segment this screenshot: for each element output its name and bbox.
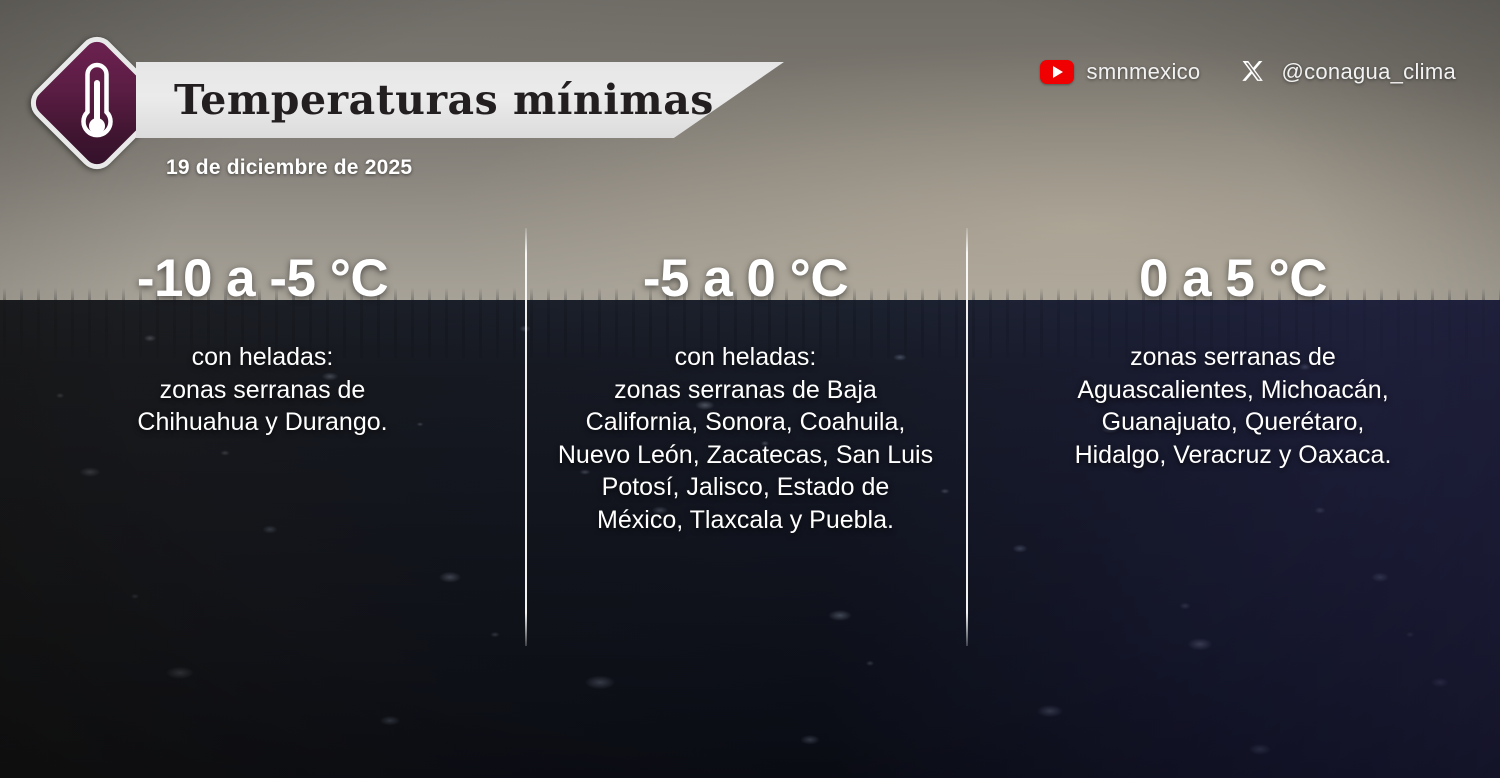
header: Temperaturas mínimas 19 de diciembre de … xyxy=(0,0,1500,200)
youtube-icon xyxy=(1040,60,1074,84)
temperature-column-3: 0 a 5 °C zonas serranas deAguascalientes… xyxy=(966,228,1500,648)
temperature-description-3: zonas serranas deAguascalientes, Michoac… xyxy=(1075,341,1392,471)
date-label: 19 de diciembre de 2025 xyxy=(166,156,412,180)
temperature-description-2: con heladas:zonas serranas de BajaCalifo… xyxy=(558,341,933,536)
column-divider-2 xyxy=(966,228,968,646)
temperature-range-1: -10 a -5 °C xyxy=(137,252,388,305)
social-link-x[interactable]: @conagua_clima xyxy=(1238,57,1456,87)
temperature-columns: -10 a -5 °C con heladas:zonas serranas d… xyxy=(0,228,1500,648)
page-title: Temperaturas mínimas xyxy=(174,62,714,138)
temperature-description-1: con heladas:zonas serranas deChihuahua y… xyxy=(137,341,387,439)
x-handle: @conagua_clima xyxy=(1281,59,1456,85)
social-link-youtube[interactable]: smnmexico xyxy=(1040,59,1201,85)
temperature-column-2: -5 a 0 °C con heladas:zonas serranas de … xyxy=(525,228,966,648)
youtube-handle: smnmexico xyxy=(1087,59,1201,85)
play-triangle-icon xyxy=(1053,66,1063,78)
column-divider-1 xyxy=(525,228,527,646)
x-twitter-icon xyxy=(1238,57,1268,87)
temperature-range-3: 0 a 5 °C xyxy=(1139,252,1327,305)
temperature-column-1: -10 a -5 °C con heladas:zonas serranas d… xyxy=(0,228,525,648)
temperature-range-2: -5 a 0 °C xyxy=(643,252,848,305)
social-links: smnmexico @conagua_clima xyxy=(1040,52,1456,92)
